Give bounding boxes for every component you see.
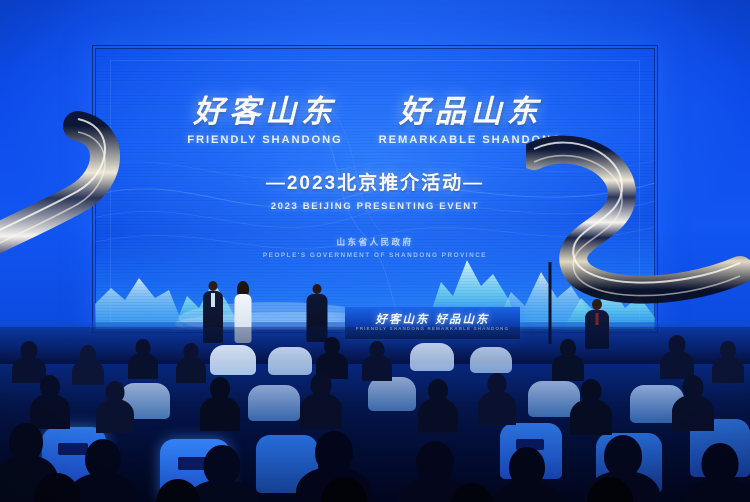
headline-cn-remarkable: 好品山东 (379, 96, 563, 129)
audience-member (430, 483, 514, 502)
chair (268, 347, 312, 375)
chair (210, 345, 256, 375)
audience-head (587, 477, 633, 502)
right-speaker-tie (596, 313, 599, 325)
audience-head (450, 483, 494, 502)
audience-shoulders (200, 396, 240, 431)
audience-member (72, 345, 104, 385)
headline-en-friendly: FRIENDLY SHANDONG (187, 134, 342, 146)
audience-shoulders (300, 393, 342, 429)
audience-member (712, 341, 744, 383)
audience-head (156, 479, 200, 502)
audience-member (128, 339, 158, 379)
headline-friendly: 好客山东 FRIENDLY SHANDONG (187, 96, 342, 146)
podium-speaker-head (313, 284, 322, 294)
audience-member (362, 341, 392, 381)
audience-member (684, 443, 750, 502)
audience-member (14, 473, 100, 502)
headline-remarkable: 好品山东 REMARKABLE SHANDONG (379, 96, 563, 146)
headline-en-remarkable: REMARKABLE SHANDONG (379, 134, 563, 146)
audience-member (136, 479, 220, 502)
audience-member (566, 477, 654, 502)
chair (248, 385, 300, 421)
chair (410, 343, 454, 371)
audience-member (200, 377, 240, 431)
audience-member (570, 379, 612, 435)
audience-head (321, 477, 367, 502)
led-stage-screen: 好客山东 FRIENDLY SHANDONG 好品山东 REMARKABLE S… (95, 48, 655, 330)
audience-member (660, 335, 694, 379)
event-photo-scene: 好客山东 FRIENDLY SHANDONG 好品山东 REMARKABLE S… (0, 0, 750, 502)
event-title-cn: —2023北京推介活动— (266, 168, 484, 195)
male-host-head (209, 281, 218, 291)
audience-member (418, 379, 458, 433)
event-title-en: 2023 BEIJING PRESENTING EVENT (271, 201, 479, 212)
audience-shoulders (96, 399, 134, 433)
audience-shoulders (570, 399, 612, 435)
audience-shoulders (478, 391, 516, 425)
audience-shoulders (672, 395, 714, 431)
audience-area (0, 327, 750, 502)
audience-member (30, 375, 70, 429)
headline-row: 好客山东 FRIENDLY SHANDONG 好品山东 REMARKABLE S… (187, 96, 562, 146)
audience-head (34, 473, 80, 502)
audience-member (552, 339, 584, 381)
audience-member (300, 477, 388, 502)
audience-shoulders (128, 353, 158, 379)
audience-member (478, 373, 516, 425)
audience-shoulders (712, 356, 744, 383)
audience-member (672, 375, 714, 431)
audience-shoulders (418, 398, 458, 433)
podium-text-cn: 好客山东 好品山东 (345, 311, 520, 327)
headline-cn-friendly: 好客山东 (187, 96, 342, 129)
audience-shoulders (552, 354, 584, 381)
male-host-shirt (211, 293, 215, 307)
audience-member (96, 381, 134, 433)
audience-shoulders (362, 355, 392, 381)
right-speaker-head (592, 299, 602, 310)
chair (470, 347, 512, 373)
audience-member (300, 373, 342, 429)
audience-shoulders (684, 478, 750, 502)
chair (368, 377, 416, 411)
